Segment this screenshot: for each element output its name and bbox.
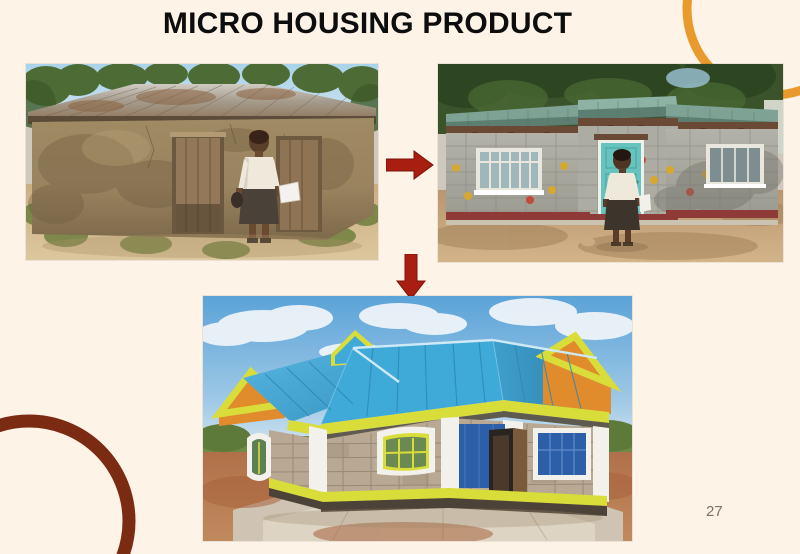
arrow-right-icon [386, 150, 434, 180]
micro-house-illustration [203, 296, 632, 541]
slide-canvas: MICRO HOUSING PRODUCT [0, 0, 800, 554]
block-house-illustration [438, 64, 783, 262]
photo-improved-block-house [438, 64, 783, 262]
page-title: MICRO HOUSING PRODUCT [0, 7, 735, 41]
arrow-down-icon [396, 254, 426, 300]
mud-house-illustration [26, 64, 378, 260]
maroon-arc-icon [0, 396, 154, 554]
photo-new-micro-house [203, 296, 632, 541]
page-number: 27 [706, 503, 723, 520]
photo-existing-mud-house [26, 64, 378, 260]
